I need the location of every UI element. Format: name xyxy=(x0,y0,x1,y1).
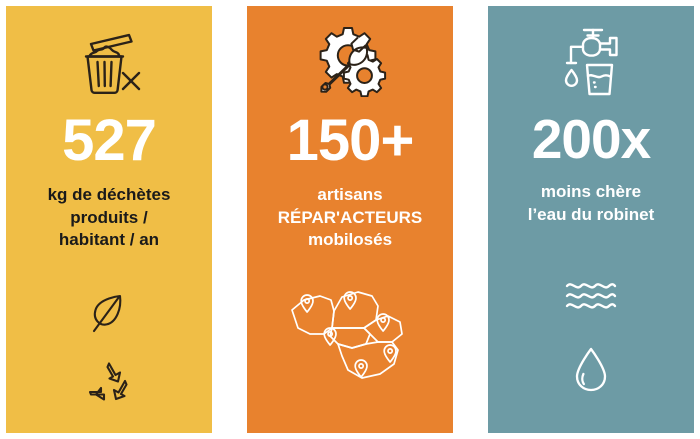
stat-caption-waste: kg de déchètes produits / habitant / an xyxy=(40,184,179,252)
stat-caption-artisans: artisans RÉPAR'ACTEURS mobilosés xyxy=(270,184,430,252)
stat-panel-waste: 527 kg de déchètes produits / habitant /… xyxy=(6,6,212,433)
caption-line: artisans xyxy=(278,184,422,207)
caption-line: kg de déchètes xyxy=(48,184,171,207)
stat-panel-water: 200x moins chère l’eau du robinet xyxy=(488,6,694,433)
caption-line: habitant / an xyxy=(48,229,171,252)
stat-figure-artisans: 150+ xyxy=(287,112,414,170)
stat-figure-water: 200x xyxy=(532,112,650,167)
caption-line: produits / xyxy=(48,207,171,230)
caption-line: RÉPAR'ACTEURS xyxy=(278,207,422,230)
water-drop-icon xyxy=(574,346,608,392)
caption-line: mobilosés xyxy=(278,229,422,252)
caption-line: moins chère xyxy=(528,181,655,204)
water-waves-icon xyxy=(564,278,618,314)
caption-line: l’eau du robinet xyxy=(528,204,655,227)
faucet-glass-icon xyxy=(553,22,629,100)
map-with-pins-icon xyxy=(286,284,414,384)
stat-panel-artisans: 150+ artisans RÉPAR'ACTEURS mobilosés xyxy=(247,6,453,433)
infographic-container: 527 kg de déchètes produits / habitant /… xyxy=(0,0,700,439)
leaf-icon xyxy=(89,290,129,334)
trash-can-crossed-icon xyxy=(73,22,145,100)
stat-figure-waste: 527 xyxy=(62,112,156,170)
recycle-icon xyxy=(85,360,133,404)
gears-wrench-icon xyxy=(311,22,389,100)
stat-caption-water: moins chère l’eau du robinet xyxy=(520,181,663,226)
